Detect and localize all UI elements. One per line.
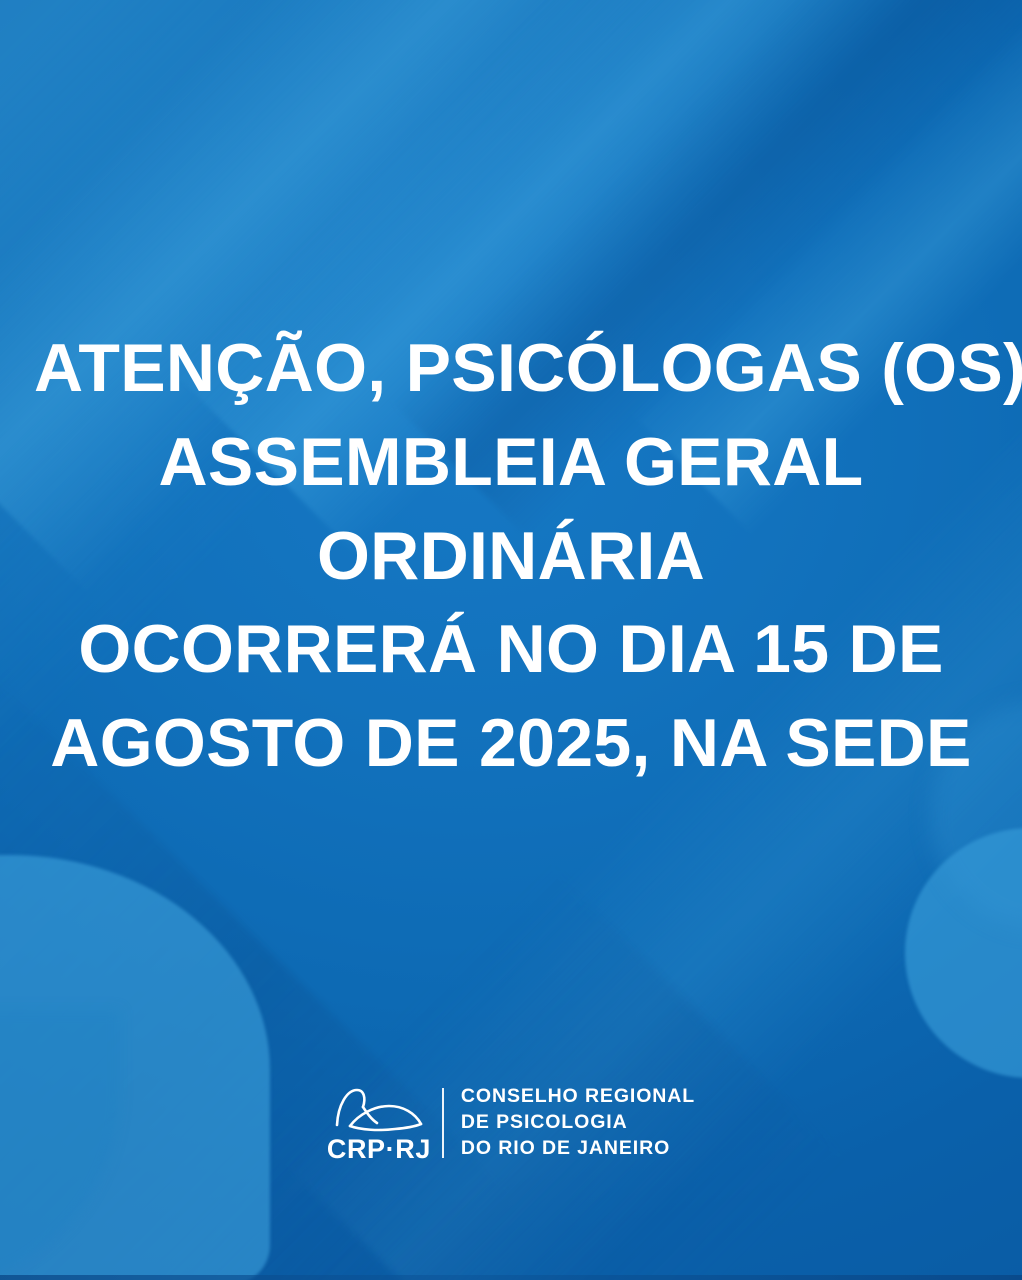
bottom-edge-strip (0, 1275, 1022, 1280)
logo-acronym: CRP·RJ (327, 1136, 431, 1163)
headline-line-2: ASSEMBLEIA GERAL (34, 416, 988, 510)
headline-line-5: AGOSTO DE 2025, NA SEDE (34, 697, 988, 791)
logo-lockup: CRP·RJ CONSELHO REGIONAL DE PSICOLOGIA D… (327, 1083, 695, 1163)
rounded-blob-left (0, 855, 270, 1280)
logo-name-line-3: DO RIO DE JANEIRO (461, 1136, 695, 1162)
headline: ATENÇÃO, PSICÓLOGAS (OS): ASSEMBLEIA GER… (0, 322, 1022, 791)
rounded-blob-right (905, 828, 1022, 1078)
headline-line-3: ORDINÁRIA (34, 510, 988, 604)
headline-line-4: OCORRERÁ NO DIA 15 DE (34, 603, 988, 697)
headline-line-1: ATENÇÃO, PSICÓLOGAS (OS): (34, 322, 988, 416)
vertical-rule-divider (442, 1088, 444, 1158)
logo-name-line-1: CONSELHO REGIONAL (461, 1084, 695, 1110)
logo-name-line-2: DE PSICOLOGIA (461, 1110, 695, 1136)
diagonal-band-bottom-center (0, 863, 847, 1280)
logo-mark: CRP·RJ (327, 1083, 431, 1163)
poster-canvas: ATENÇÃO, PSICÓLOGAS (OS): ASSEMBLEIA GER… (0, 0, 1022, 1280)
logo-name-block: CONSELHO REGIONAL DE PSICOLOGIA DO RIO D… (461, 1084, 695, 1162)
dove-bird-icon (333, 1083, 425, 1133)
crp-rj-logo: CRP·RJ CONSELHO REGIONAL DE PSICOLOGIA D… (0, 1083, 1022, 1163)
